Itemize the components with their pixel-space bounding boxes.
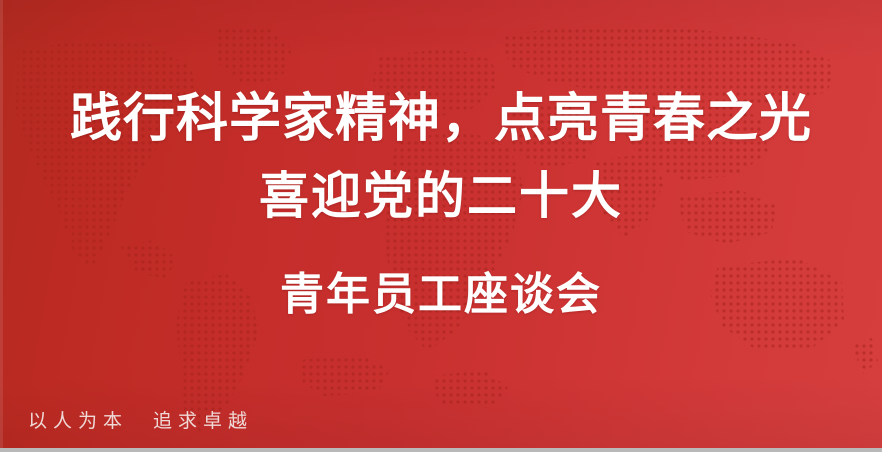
title-line-1: 践行科学家精神，点亮青春之光 bbox=[70, 88, 812, 150]
presentation-slide: 践行科学家精神，点亮青春之光 喜迎党的二十大 青年员工座谈会 以人为本 追求卓越 bbox=[0, 0, 882, 452]
corporate-tagline: 以人为本 追求卓越 bbox=[28, 409, 253, 433]
headline-block: 践行科学家精神，点亮青春之光 喜迎党的二十大 青年员工座谈会 bbox=[0, 0, 882, 400]
red-banner-background: 践行科学家精神，点亮青春之光 喜迎党的二十大 青年员工座谈会 以人为本 追求卓越 bbox=[0, 0, 882, 448]
bottom-gray-strip bbox=[0, 448, 882, 452]
event-subtitle: 青年员工座谈会 bbox=[280, 268, 602, 322]
title-line-2: 喜迎党的二十大 bbox=[259, 166, 623, 226]
